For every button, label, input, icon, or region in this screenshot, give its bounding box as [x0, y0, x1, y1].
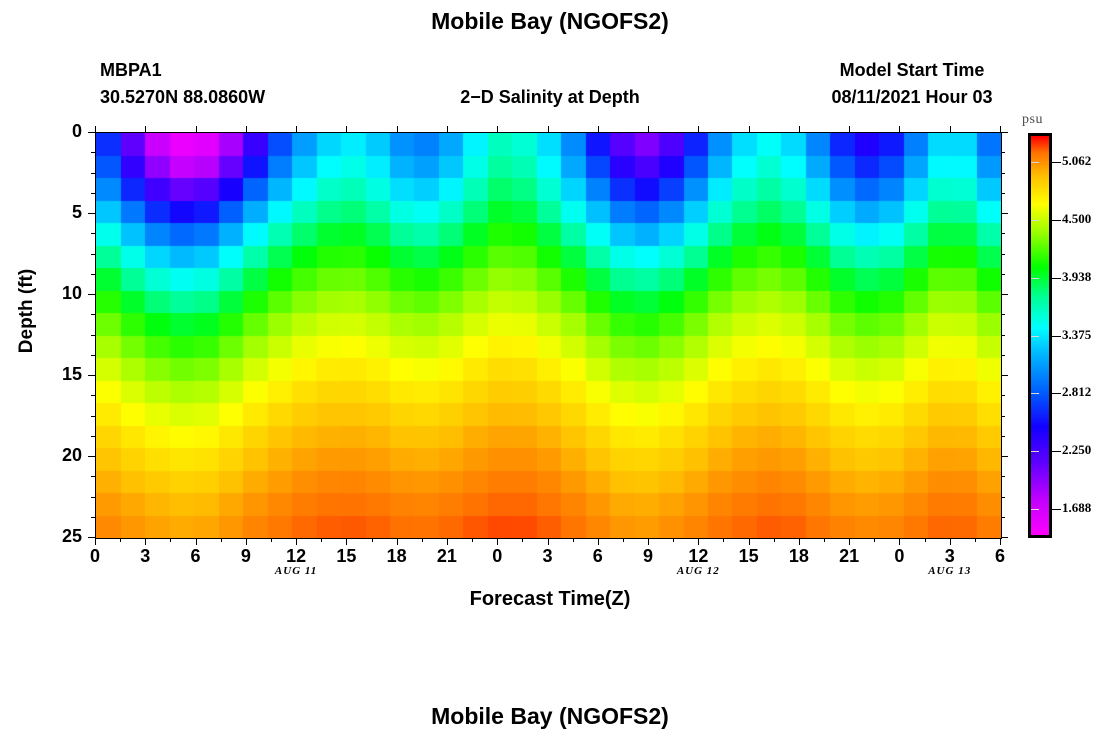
y-axis-tick-label: 25 [42, 526, 82, 547]
x-axis-tick [346, 538, 347, 545]
colorbar-inner-tick [1031, 393, 1039, 394]
x-axis-tick [849, 538, 850, 545]
y-axis-tick-label: 10 [42, 283, 82, 304]
x-axis-minor-tick [522, 538, 523, 542]
colorbar-tick-label: 3.938 [1062, 269, 1091, 285]
x-axis-day-label: AUG 12 [658, 565, 738, 577]
y-axis-minor-tick-right [1001, 476, 1005, 477]
x-axis-tick [246, 538, 247, 545]
x-axis-tick [648, 538, 649, 545]
x-axis-tick [95, 538, 96, 545]
y-axis-minor-tick [91, 355, 95, 356]
x-axis-tick-label: 6 [176, 546, 216, 567]
model-start-time-value-text: 08/11/2021 Hour 03 [831, 87, 992, 107]
x-axis-tick-top [548, 126, 549, 133]
x-axis-minor-tick [170, 538, 171, 542]
y-axis-tick-label: 0 [42, 121, 82, 142]
y-axis-minor-tick [91, 193, 95, 194]
x-axis-tick-label: 9 [628, 546, 668, 567]
y-axis-minor-tick-right [1001, 436, 1005, 437]
x-axis-tick [296, 538, 297, 545]
y-axis-minor-tick [91, 497, 95, 498]
y-axis-minor-tick [91, 335, 95, 336]
x-axis-tick-top [447, 126, 448, 133]
x-axis-minor-tick [221, 538, 222, 542]
colorbar-inner-tick [1031, 336, 1039, 337]
colorbar-tick-label: 3.375 [1062, 327, 1091, 343]
x-axis-minor-tick [472, 538, 473, 542]
salinity-heatmap-canvas [96, 133, 1001, 538]
y-axis-minor-tick [91, 436, 95, 437]
y-axis-minor-tick-right [1001, 254, 1005, 255]
y-axis-minor-tick-right [1001, 497, 1005, 498]
x-axis-tick [447, 538, 448, 545]
colorbar-inner-tick [1031, 509, 1039, 510]
x-axis-tick-label: 15 [729, 546, 769, 567]
y-axis-tick-label: 20 [42, 445, 82, 466]
x-axis-title: Forecast Time(Z) [0, 588, 1100, 611]
y-axis-minor-tick-right [1001, 416, 1005, 417]
page-title-bottom: Mobile Bay (NGOFS2) [0, 703, 1100, 730]
x-axis-tick-label: 18 [779, 546, 819, 567]
y-axis-minor-tick-right [1001, 173, 1005, 174]
y-axis-tick-right [1001, 456, 1008, 457]
x-axis-tick-label: 18 [377, 546, 417, 567]
x-axis-tick-label: 9 [226, 546, 266, 567]
x-axis-tick-label: 3 [528, 546, 568, 567]
x-axis-tick-label: 0 [75, 546, 115, 567]
x-axis-minor-tick [623, 538, 624, 542]
x-axis-tick [145, 538, 146, 545]
x-axis-tick-label: 12 [678, 546, 718, 567]
x-axis-tick [497, 538, 498, 545]
colorbar-tick [1052, 336, 1061, 337]
y-axis-tick [88, 537, 95, 538]
x-axis-minor-tick [673, 538, 674, 542]
y-axis-tick [88, 375, 95, 376]
colorbar-tick [1052, 162, 1061, 163]
x-axis-tick-label: 12 [276, 546, 316, 567]
x-axis-minor-tick [271, 538, 272, 542]
colorbar-tick-label: 2.812 [1062, 384, 1091, 400]
x-axis-tick-top [698, 126, 699, 133]
colorbar-tick-label: 2.250 [1062, 442, 1091, 458]
x-axis-tick [1000, 538, 1001, 545]
x-axis-minor-tick [925, 538, 926, 542]
x-axis-minor-tick [824, 538, 825, 542]
colorbar-tick [1052, 451, 1061, 452]
x-axis-minor-tick [120, 538, 121, 542]
y-axis-minor-tick [91, 254, 95, 255]
y-axis-title: Depth (ft) [16, 241, 38, 381]
y-axis-minor-tick-right [1001, 274, 1005, 275]
y-axis-minor-tick [91, 173, 95, 174]
y-axis-minor-tick-right [1001, 355, 1005, 356]
x-axis-tick-label: 3 [930, 546, 970, 567]
x-axis-tick-label: 15 [326, 546, 366, 567]
x-axis-day-label: AUG 13 [910, 565, 990, 577]
y-axis-minor-tick-right [1001, 517, 1005, 518]
x-axis-tick-top [95, 126, 96, 133]
y-axis-minor-tick [91, 416, 95, 417]
x-axis-tick [950, 538, 951, 545]
y-axis-minor-tick-right [1001, 152, 1005, 153]
x-axis-tick-top [397, 126, 398, 133]
x-axis-tick [698, 538, 699, 545]
y-axis-tick [88, 294, 95, 295]
y-axis-tick-right [1001, 213, 1008, 214]
y-axis-tick-right [1001, 375, 1008, 376]
x-axis-tick-label: 0 [879, 546, 919, 567]
x-axis-tick [196, 538, 197, 545]
page-title-top: Mobile Bay (NGOFS2) [0, 8, 1100, 35]
colorbar-tick [1052, 278, 1061, 279]
x-axis-tick-top [346, 126, 347, 133]
x-axis-tick-top [497, 126, 498, 133]
x-axis-tick [598, 538, 599, 545]
x-axis-tick [749, 538, 750, 545]
x-axis-tick-top [145, 126, 146, 133]
x-axis-tick-top [799, 126, 800, 133]
colorbar-tick [1052, 220, 1061, 221]
x-axis-tick [799, 538, 800, 545]
y-axis-minor-tick-right [1001, 335, 1005, 336]
x-axis-tick-label: 21 [829, 546, 869, 567]
x-axis-tick-label: 3 [125, 546, 165, 567]
x-axis-tick-top [950, 126, 951, 133]
x-axis-tick-label: 6 [980, 546, 1020, 567]
x-axis-minor-tick [321, 538, 322, 542]
x-axis-tick-label: 6 [578, 546, 618, 567]
y-axis-minor-tick [91, 233, 95, 234]
y-axis-tick [88, 132, 95, 133]
colorbar-inner-tick [1031, 451, 1039, 452]
colorbar-tick-label: 1.688 [1062, 500, 1091, 516]
y-axis-tick-label: 5 [42, 202, 82, 223]
colorbar-inner-tick [1031, 278, 1039, 279]
x-axis-tick-top [598, 126, 599, 133]
colorbar-inner-tick [1031, 220, 1039, 221]
x-axis-tick-top [749, 126, 750, 133]
x-axis-minor-tick [372, 538, 373, 542]
colorbar-tick-label: 4.500 [1062, 211, 1091, 227]
y-axis-tick [88, 213, 95, 214]
x-axis-tick [397, 538, 398, 545]
x-axis-tick-top [648, 126, 649, 133]
y-axis-minor-tick-right [1001, 395, 1005, 396]
x-axis-tick-label: 0 [477, 546, 517, 567]
x-axis-minor-tick [774, 538, 775, 542]
y-axis-minor-tick-right [1001, 314, 1005, 315]
y-axis-tick-right [1001, 537, 1008, 538]
x-axis-minor-tick [975, 538, 976, 542]
y-axis-tick-right [1001, 294, 1008, 295]
colorbar-tick-label: 5.062 [1062, 153, 1091, 169]
y-axis-minor-tick [91, 517, 95, 518]
x-axis-tick [899, 538, 900, 545]
x-axis-minor-tick [723, 538, 724, 542]
colorbar-unit-label: psu [1022, 112, 1043, 128]
y-axis-minor-tick [91, 476, 95, 477]
x-axis-tick-top [196, 126, 197, 133]
y-axis-tick-label: 15 [42, 364, 82, 385]
colorbar-tick [1052, 509, 1061, 510]
x-axis-tick-top [849, 126, 850, 133]
x-axis-tick-top [899, 126, 900, 133]
x-axis-day-label: AUG 11 [256, 565, 336, 577]
colorbar-tick [1052, 393, 1061, 394]
y-axis-minor-tick-right [1001, 193, 1005, 194]
y-axis-minor-tick [91, 314, 95, 315]
y-axis-tick [88, 456, 95, 457]
model-start-time-value: 08/11/2021 Hour 03 [0, 87, 1100, 108]
x-axis-tick [548, 538, 549, 545]
y-axis-minor-tick [91, 274, 95, 275]
x-axis-tick-label: 21 [427, 546, 467, 567]
x-axis-tick-top [296, 126, 297, 133]
y-axis-tick-right [1001, 132, 1008, 133]
x-axis-minor-tick [422, 538, 423, 542]
salinity-heatmap-plot [95, 132, 1002, 539]
y-axis-minor-tick-right [1001, 233, 1005, 234]
x-axis-minor-tick [573, 538, 574, 542]
y-axis-minor-tick [91, 395, 95, 396]
y-axis-minor-tick [91, 152, 95, 153]
model-start-time-label-text: Model Start Time [840, 60, 985, 80]
colorbar-inner-tick [1031, 162, 1039, 163]
x-axis-minor-tick [874, 538, 875, 542]
model-start-time-label: Model Start Time [0, 60, 1100, 81]
x-axis-tick-top [246, 126, 247, 133]
